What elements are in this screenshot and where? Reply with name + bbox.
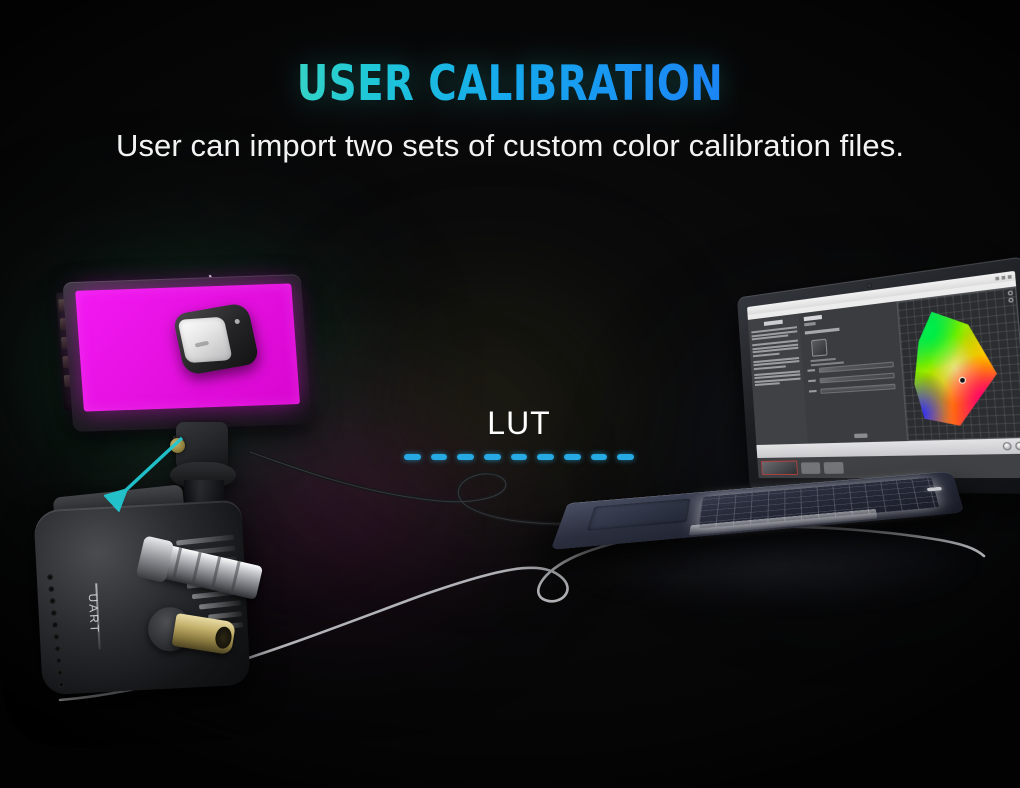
- media-tray[interactable]: [757, 454, 1020, 478]
- sidebar-paragraph: [754, 370, 800, 386]
- calibration-panel: [799, 302, 904, 444]
- file-path-input[interactable]: [821, 383, 896, 393]
- form-label: [807, 369, 815, 372]
- cie-chromaticity-diagram[interactable]: [896, 286, 1020, 441]
- trackpad[interactable]: [587, 499, 691, 531]
- gamut-tool-icons[interactable]: [1008, 290, 1014, 305]
- form-row[interactable]: [809, 383, 896, 394]
- lut-label: LUT: [404, 405, 634, 442]
- field-monitor: Portkeys: [58, 270, 348, 500]
- panel-subtitle: [804, 322, 816, 326]
- sidebar-paragraph: [753, 356, 799, 369]
- camera-vents: [42, 566, 77, 654]
- play-icon[interactable]: [1015, 442, 1020, 451]
- apply-button[interactable]: [854, 433, 867, 438]
- app-sidebar[interactable]: [748, 314, 808, 445]
- callout-arrow-icon: [104, 432, 194, 512]
- media-clip-thumbnail[interactable]: [761, 460, 798, 475]
- lut-dashed-line: [404, 454, 634, 460]
- form-label: [808, 379, 816, 382]
- sidebar-paragraph: [752, 340, 798, 357]
- device-thumbnail[interactable]: [811, 338, 828, 356]
- laptop-screen: [747, 271, 1020, 478]
- page-title: USER CALIBRATION: [61, 55, 959, 112]
- minimize-icon[interactable]: [995, 276, 999, 280]
- webcam-icon: [867, 283, 873, 289]
- laptop: [570, 295, 1000, 565]
- bnc-bore: [214, 626, 233, 650]
- camera-body: UART: [33, 500, 250, 696]
- tray-icon[interactable]: [801, 462, 821, 474]
- colorimeter-probe: [173, 302, 261, 376]
- lut-callout: LUT: [404, 405, 634, 460]
- uart-port-label: UART: [86, 593, 102, 634]
- monitor-screen: [75, 283, 300, 411]
- bnc-barrel: [172, 613, 236, 655]
- laptop-lid: [737, 256, 1020, 494]
- close-icon[interactable]: [1008, 274, 1012, 278]
- probe-face: [178, 316, 233, 362]
- promo-banner: USER CALIBRATION User can import two set…: [0, 0, 1020, 788]
- page-subtitle: User can import two sets of custom color…: [0, 128, 1020, 164]
- sidebar-title: [764, 320, 782, 326]
- file-path-input[interactable]: [820, 372, 895, 383]
- settings-icon[interactable]: [1008, 290, 1013, 295]
- header: USER CALIBRATION User can import two set…: [0, 0, 1020, 164]
- target-icon[interactable]: [1008, 297, 1013, 302]
- form-row[interactable]: [808, 372, 895, 384]
- form-label: [809, 390, 817, 393]
- probe-slot: [195, 341, 210, 348]
- cinema-camera: UART: [20, 495, 310, 725]
- usb-port[interactable]: [927, 487, 942, 492]
- monitor-chassis: Portkeys: [62, 274, 311, 432]
- sidebar-paragraph: [751, 326, 797, 340]
- previous-icon[interactable]: [1003, 442, 1012, 451]
- tray-icon[interactable]: [824, 461, 844, 473]
- panel-description: [804, 327, 839, 334]
- panel-title: [803, 315, 821, 321]
- maximize-icon[interactable]: [1001, 275, 1005, 279]
